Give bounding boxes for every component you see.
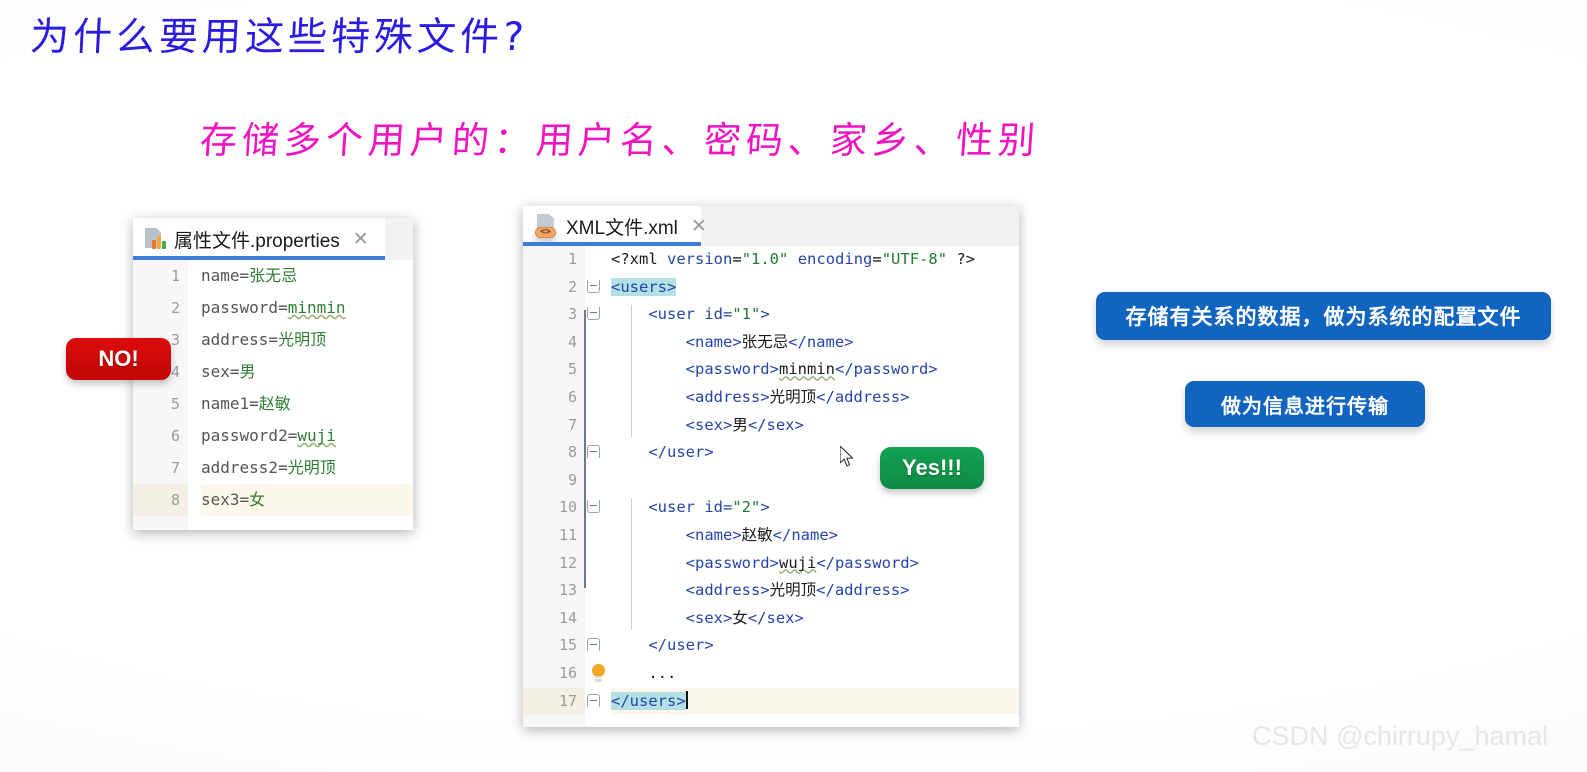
properties-code-area[interactable]: i 12345678 name=张无忌password=minminaddres… [133, 260, 413, 530]
properties-file-icon [145, 228, 167, 250]
code-fold-toggle[interactable] [587, 638, 600, 651]
properties-value: 光明顶 [288, 458, 336, 477]
line-number: 15 [523, 632, 585, 660]
xml-line[interactable]: <user id="2"> [611, 494, 1019, 522]
xml-line[interactable]: ... [611, 660, 1019, 688]
line-number: 8 [133, 484, 188, 516]
properties-line[interactable]: password=minmin [201, 292, 413, 324]
xml-line[interactable]: <address>光明顶</address> [611, 577, 1019, 605]
line-number: 16 [523, 660, 585, 688]
properties-line[interactable]: sex=男 [201, 356, 413, 388]
properties-key: name= [201, 266, 249, 285]
indent-guide [631, 305, 632, 437]
properties-key: password= [201, 298, 288, 317]
properties-editor-window: 属性文件.properties ✕ i 12345678 name=张无忌pas… [133, 218, 413, 530]
line-number: 6 [133, 420, 188, 452]
code-fold-toggle[interactable] [587, 307, 600, 320]
line-number: 2 [523, 274, 585, 302]
no-badge: NO! [66, 338, 171, 380]
properties-key: address2= [201, 458, 288, 477]
line-number: 17 [523, 688, 585, 716]
xml-line[interactable]: <name>赵敏</name> [611, 522, 1019, 550]
properties-value: wuji [297, 426, 336, 445]
yes-badge: Yes!!! [880, 447, 984, 489]
properties-line[interactable]: sex3=女 [201, 484, 413, 516]
xml-line[interactable]: </user> [611, 632, 1019, 660]
line-number: 2 [133, 292, 188, 324]
properties-value: 光明顶 [278, 330, 326, 349]
xml-line[interactable]: <users> [611, 274, 1019, 302]
line-number: 1 [523, 246, 585, 274]
tab-xml-label: XML文件.xml [566, 213, 678, 240]
xml-code-badge: <> [535, 227, 556, 238]
properties-value: 张无忌 [249, 266, 297, 285]
xml-line[interactable]: <sex>女</sex> [611, 605, 1019, 633]
properties-key: name1= [201, 394, 259, 413]
code-fold-toggle[interactable] [587, 500, 600, 513]
line-number: 3 [523, 301, 585, 329]
properties-key: sex3= [201, 490, 249, 509]
lightbulb-icon[interactable] [591, 664, 606, 683]
properties-line[interactable]: name1=赵敏 [201, 388, 413, 420]
xml-line-number-gutter: 1234567891011121314151617 [523, 246, 585, 727]
close-icon[interactable]: ✕ [353, 230, 369, 249]
properties-value: 赵敏 [259, 394, 291, 413]
xml-tabbar: <> XML文件.xml ✕ [523, 206, 1019, 246]
line-number: 7 [133, 452, 188, 484]
indent-guide [631, 498, 632, 630]
tab-properties-file[interactable]: 属性文件.properties ✕ [133, 218, 385, 260]
mouse-cursor-icon [840, 446, 855, 468]
watermark: CSDN @chirrupy_hamal [1252, 721, 1548, 752]
properties-line-number-gutter: 12345678 [133, 260, 188, 530]
properties-line[interactable]: address=光明顶 [201, 324, 413, 356]
properties-key: password2= [201, 426, 297, 445]
line-number: 11 [523, 522, 585, 550]
callout-config-file: 存储有关系的数据，做为系统的配置文件 [1096, 292, 1551, 340]
page-title: 为什么要用这些特殊文件? [29, 14, 529, 63]
properties-line[interactable]: address2=光明顶 [201, 452, 413, 484]
line-number: 5 [133, 388, 188, 420]
tab-properties-label: 属性文件.properties [174, 226, 340, 253]
properties-value: 女 [249, 490, 265, 509]
line-number: 6 [523, 384, 585, 412]
properties-line[interactable]: name=张无忌 [201, 260, 413, 292]
xml-line[interactable]: <password>wuji</password> [611, 550, 1019, 578]
text-caret [686, 691, 688, 709]
line-number: 10 [523, 494, 585, 522]
properties-line[interactable]: password2=wuji [201, 420, 413, 452]
xml-line[interactable]: </users> [611, 688, 1019, 716]
xml-line[interactable]: <address>光明顶</address> [611, 384, 1019, 412]
properties-code-lines[interactable]: name=张无忌password=minminaddress=光明顶sex=男n… [188, 260, 413, 530]
code-fold-toggle[interactable] [587, 445, 600, 458]
xml-file-icon: <> [535, 214, 559, 238]
properties-value: minmin [288, 298, 346, 317]
close-icon[interactable]: ✕ [691, 217, 707, 236]
xml-line[interactable]: <name>张无忌</name> [611, 329, 1019, 357]
line-number: 8 [523, 439, 585, 467]
xml-line[interactable]: <?xml version="1.0" encoding="UTF-8" ?> [611, 246, 1019, 274]
xml-line[interactable]: <user id="1"> [611, 301, 1019, 329]
xml-line[interactable]: <password>minmin</password> [611, 356, 1019, 384]
properties-key: sex= [201, 362, 240, 381]
properties-key: address= [201, 330, 278, 349]
line-number: 7 [523, 412, 585, 440]
line-number: 14 [523, 605, 585, 633]
line-number: 5 [523, 356, 585, 384]
line-number: 12 [523, 550, 585, 578]
xml-line[interactable]: <sex>男</sex> [611, 412, 1019, 440]
line-number: 9 [523, 467, 585, 495]
line-number: 1 [133, 260, 188, 292]
page-subtitle: 存储多个用户的：用户名、密码、家乡、性别 [198, 118, 1041, 164]
line-number: 13 [523, 577, 585, 605]
tab-xml-file[interactable]: <> XML文件.xml ✕ [523, 206, 701, 246]
code-fold-toggle[interactable] [587, 280, 600, 293]
callout-data-transfer: 做为信息进行传输 [1185, 381, 1425, 427]
properties-tabbar: 属性文件.properties ✕ [133, 218, 413, 260]
properties-value: 男 [240, 362, 256, 381]
line-number: 4 [523, 329, 585, 357]
code-fold-toggle[interactable] [587, 694, 600, 707]
